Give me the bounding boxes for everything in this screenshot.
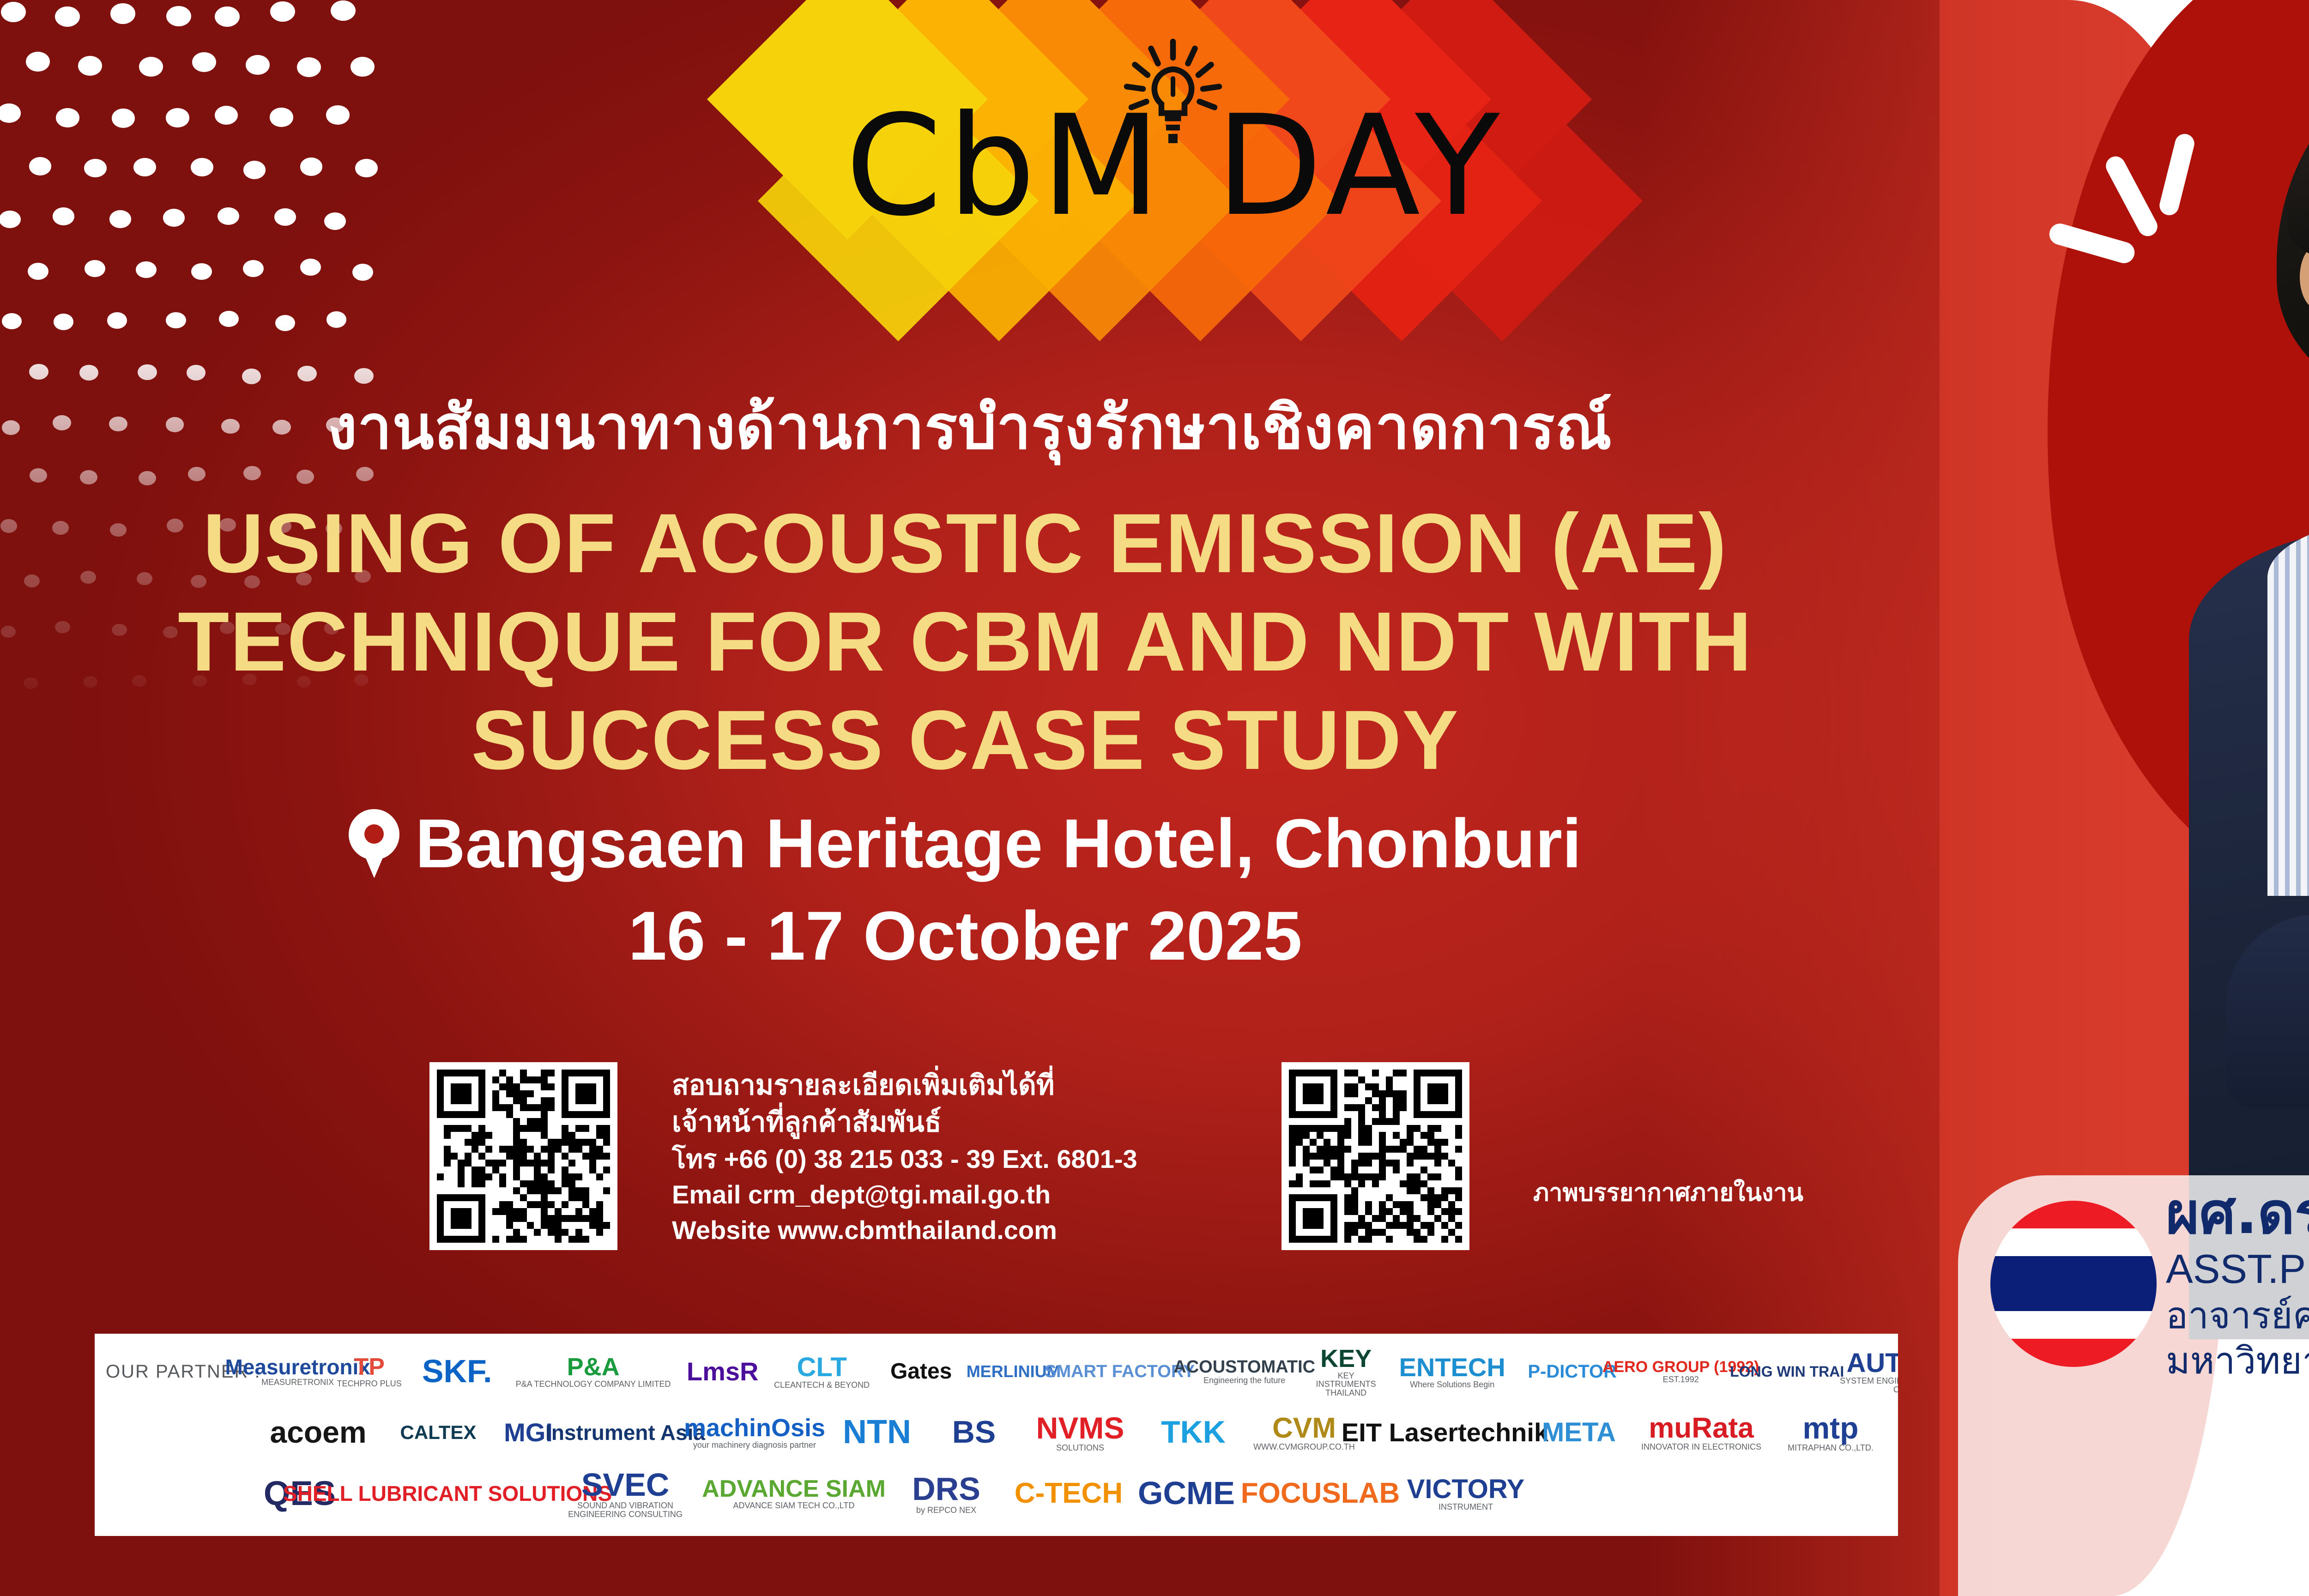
partner-logo: VICTORYINSTRUMENT — [1399, 1475, 1533, 1511]
partner-logo: AERO GROUP (1992)EST.1992 — [1623, 1359, 1739, 1384]
partner-logo-subtitle: CLEANTECH & BEYOND — [774, 1381, 870, 1389]
partner-logo: acoem — [254, 1417, 383, 1448]
partner-logo: ADVANCE SIAMADVANCE SIAM TECH CO.,LTD — [711, 1477, 877, 1510]
partner-logo: ENTECHWhere Solutions Begin — [1383, 1354, 1522, 1389]
partner-logo-subtitle: MEASURETRONIX — [261, 1378, 334, 1386]
partner-logo-name: C-TECH — [1015, 1479, 1123, 1508]
partner-logo: AUTOLUBSYSTEM ENGINEERING (THAILAND) CO.… — [1836, 1349, 1898, 1394]
partner-logo-name: NTN — [843, 1415, 911, 1449]
partner-logo-name: acoem — [270, 1417, 366, 1448]
partner-logo: Gates — [884, 1360, 958, 1383]
speaker-role: อาจารย์คณะวิศวกรรมศาสตร์ — [2166, 1293, 2309, 1338]
partner-logo: META — [1533, 1419, 1625, 1446]
partner-logo: GCME — [1131, 1477, 1242, 1510]
partner-logo: NVMSSOLUTIONS — [1025, 1413, 1136, 1452]
partner-logo-subtitle: KEY INSTRUMENTS THAILAND — [1316, 1372, 1376, 1397]
cbm-day-logo: CbM DAY — [748, 18, 1602, 314]
partner-logo: LmsR — [686, 1358, 760, 1384]
main-title: USING OF ACOUSTIC EMISSION (AE) TECHNIQU… — [0, 494, 1930, 789]
partner-logo-subtitle: Engineering the future — [1203, 1376, 1285, 1384]
speaker-organization: มหาวิทยาลัยเทคโนโลยีพระจอมเกล้าพระนครเหน… — [2166, 1338, 2309, 1384]
partner-logo-name: mtp — [1803, 1413, 1859, 1444]
contact-thai-line-2: เจ้าหน้าที่ลูกค้าสัมพันธ์ — [672, 1104, 1272, 1141]
contact-phone: โทร +66 (0) 38 215 033 - 39 Ext. 6801-3 — [672, 1141, 1272, 1177]
partner-row: acoemCALTEXMGIInstrument AsiamachinOsisy… — [106, 1403, 1887, 1462]
partner-logo-name: LONG WIN TRAI — [1730, 1364, 1844, 1379]
partner-logo-name: EIT Lasertechnik — [1342, 1419, 1548, 1445]
title-line-1: USING OF ACOUSTIC EMISSION (AE) — [0, 494, 1930, 592]
partner-logo: P&AP&A TECHNOLOGY COMPANY LIMITED — [510, 1354, 677, 1388]
partner-logo-name: CVM — [1272, 1414, 1336, 1443]
partner-logo-name: CALTEX — [400, 1423, 477, 1443]
partner-logo-subtitle: SYSTEM ENGINEERING (THAILAND) CO., LTD. — [1836, 1377, 1898, 1394]
partner-logo-name: TKK — [1161, 1416, 1226, 1448]
partner-logo: LONG WIN TRAI — [1748, 1364, 1826, 1379]
partner-logo: SMART FACTORY — [1069, 1363, 1171, 1381]
partner-logo-subtitle: WWW.CVMGROUP.CO.TH — [1253, 1443, 1355, 1451]
partner-logo-name: ACOUSTOMATIC — [1173, 1358, 1315, 1376]
contact-info-block: สอบถามรายละเอียดเพิ่มเติมได้ที่ เจ้าหน้า… — [672, 1067, 1272, 1248]
speaker-name-thai: ผศ.ดร. จิรพงศ์ ลิม — [2166, 1182, 2309, 1245]
partner-logo-subtitle: ADVANCE SIAM TECH CO.,LTD — [733, 1501, 854, 1510]
partner-logo: CLTCLEANTECH & BEYOND — [769, 1354, 875, 1390]
partner-logo: NTN — [831, 1415, 923, 1449]
partner-logo-name: VICTORY — [1407, 1475, 1525, 1503]
title-line-2: TECHNIQUE FOR CBM AND NDT WITH — [0, 592, 1930, 691]
partner-logo: TKK — [1145, 1416, 1242, 1448]
partner-logo: Instrument Asia — [572, 1422, 678, 1444]
venue-row: Bangsaen Heritage Hotel, Chonburi — [0, 804, 1930, 883]
partner-logo: BS — [932, 1416, 1015, 1448]
partner-logo-name: LmsR — [687, 1358, 759, 1384]
venue-name: Bangsaen Heritage Hotel, Chonburi — [415, 804, 1581, 883]
white-burst-decoration — [2053, 120, 2219, 286]
partner-logo-subtitle: TECHPRO PLUS — [337, 1379, 402, 1388]
event-date: 16 - 17 October 2025 — [0, 896, 1930, 976]
partner-logo-subtitle: Where Solutions Begin — [1410, 1380, 1494, 1389]
contact-thai-line-1: สอบถามรายละเอียดเพิ่มเติมได้ที่ — [672, 1067, 1272, 1104]
partner-logo-name: SMART FACTORY — [1045, 1363, 1195, 1381]
partner-logo-name: P&A — [567, 1354, 620, 1380]
partner-logo-name: GCME — [1138, 1477, 1235, 1510]
title-line-3: SUCCESS CASE STUDY — [0, 691, 1930, 789]
contact-email: Email crm_dept@tgi.mail.go.th — [672, 1177, 1272, 1212]
partner-logo-subtitle: your machinery diagnosis partner — [693, 1441, 816, 1449]
partner-logo-name: NVMS — [1036, 1413, 1124, 1444]
partner-logo-name: ADVANCE SIAM — [702, 1477, 886, 1501]
partner-logo-name: Gates — [890, 1360, 952, 1383]
partner-logo: CALTEX — [392, 1423, 484, 1443]
partner-logo-name: DRS — [912, 1473, 980, 1505]
partner-logo: MeasuretronixMEASURETRONIX — [270, 1356, 326, 1386]
qr-code-registration[interactable] — [429, 1062, 617, 1250]
partner-logo-subtitle: P&A TECHNOLOGY COMPANY LIMITED — [516, 1380, 671, 1388]
partners-bar: OUR PARTNER :MeasuretronixMEASURETRONIXT… — [95, 1334, 1898, 1536]
partner-logo-subtitle: INSTRUMENT — [1439, 1503, 1493, 1511]
poster-root: CbM DAY งานสัมมนาทางด้านการบำรุงรักษาเชิ… — [0, 0, 2309, 1596]
partner-logo: P-DICTOR — [1531, 1362, 1614, 1381]
contact-website[interactable]: Website www.cbmthailand.com — [672, 1212, 1272, 1248]
partner-logo-name: BS — [952, 1416, 996, 1448]
partner-logo-name: TP — [354, 1355, 384, 1379]
partner-logo-name: Instrument Asia — [545, 1422, 705, 1444]
partner-row: OUR PARTNER :MeasuretronixMEASURETRONIXT… — [106, 1342, 1887, 1401]
partner-logo-name: SVEC — [581, 1469, 670, 1501]
partner-logo-name: KEY — [1320, 1346, 1372, 1372]
partner-row: QESSHELL LUBRICANT SOLUTIONSSVECSOUND AN… — [106, 1464, 1887, 1523]
partner-logo: FOCUSLAB — [1251, 1479, 1390, 1508]
partner-logo-subtitle: SOLUTIONS — [1056, 1444, 1104, 1452]
thai-subtitle: งานสัมมนาทางด้านการบำรุงรักษาเชิงคาดการณ… — [0, 379, 1940, 476]
partner-logo: muRataINNOVATOR IN ELECTRONICS — [1634, 1414, 1768, 1451]
partner-logo: TPTECHPRO PLUS — [335, 1355, 404, 1388]
partner-logo: mtpMITRAPHAN CO.,LTD. — [1777, 1413, 1884, 1452]
partner-logo: SVECSOUND AND VIBRATION ENGINEERING CONS… — [549, 1469, 701, 1518]
partner-logo: EIT Lasertechnik — [1366, 1419, 1523, 1445]
partner-logo-subtitle: SOUND AND VIBRATION ENGINEERING CONSULTI… — [549, 1501, 701, 1518]
partner-logo: SKF. — [413, 1355, 501, 1388]
qr-code-event-photos[interactable] — [1281, 1062, 1469, 1250]
partner-logo-name: muRata — [1649, 1414, 1753, 1443]
logo-text: CbM DAY — [748, 97, 1602, 236]
partner-logo-name: AUTOLUB — [1846, 1349, 1898, 1377]
thai-flag-icon — [1990, 1201, 2157, 1367]
partner-logo: C-TECH — [1015, 1479, 1122, 1508]
partner-logo-subtitle: EST.1992 — [1663, 1375, 1699, 1384]
speaker-name-english: ASST.PROF.DR. JIRAPONG LIM — [2166, 1245, 2309, 1293]
partner-logo-name: machinOsis — [684, 1415, 825, 1441]
partner-logo-subtitle: by REPCO NEX — [916, 1506, 976, 1514]
location-pin-icon — [349, 809, 399, 878]
partner-logo-name: FOCUSLAB — [1241, 1479, 1400, 1508]
partner-logo: ACOUSTOMATICEngineering the future — [1180, 1358, 1309, 1384]
partner-logo-subtitle: INNOVATOR IN ELECTRONICS — [1641, 1443, 1761, 1451]
partner-logo: KEYKEY INSTRUMENTS THAILAND — [1318, 1346, 1374, 1397]
partner-logo: SHELL LUBRICANT SOLUTIONS — [355, 1483, 540, 1505]
partner-logo-name: SKF. — [422, 1355, 492, 1388]
partner-logo: DRSby REPCO NEX — [886, 1473, 1006, 1514]
partner-logo-name: CLT — [797, 1354, 846, 1381]
qr-photos-label: ภาพบรรยากาศภายในงาน — [1533, 1173, 1949, 1211]
partner-logo-name: META — [1542, 1419, 1616, 1446]
partner-logo: machinOsisyour machinery diagnosis partn… — [688, 1415, 822, 1449]
partner-logo-subtitle: MITRAPHAN CO.,LTD. — [1788, 1444, 1874, 1452]
partner-logo-name: ENTECH — [1399, 1354, 1505, 1380]
speaker-text-block: ผศ.ดร. จิรพงศ์ ลิม ASST.PROF.DR. JIRAPON… — [2166, 1182, 2309, 1383]
